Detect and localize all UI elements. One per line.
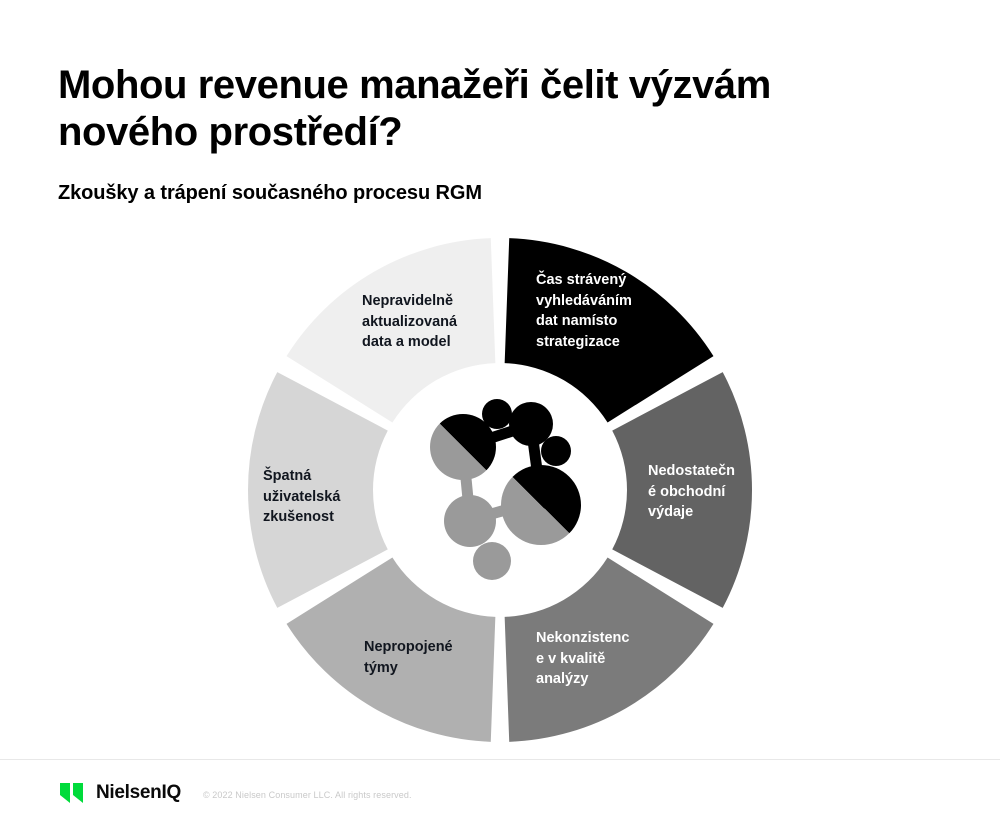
segment-label-0: Čas strávený vyhledáváním dat namísto st…	[536, 270, 654, 352]
segment-label-1: Nedostatečn é obchodní výdaje	[648, 461, 748, 523]
donut-chart-svg	[0, 0, 1000, 780]
segment-label-4: Špatná uživatelská zkušenost	[263, 466, 367, 528]
nielseniq-logo: NielsenIQ	[58, 780, 181, 806]
molecule-network-icon	[430, 399, 581, 580]
segment-label-5: Nepravidelně aktualizovaná data a model	[362, 291, 480, 353]
segment-label-3: Nepropojené týmy	[364, 637, 474, 678]
copyright-text: © 2022 Nielsen Consumer LLC. All rights …	[203, 786, 412, 800]
slide-canvas: Mohou revenue manažeři čelit výzvám nové…	[0, 0, 1000, 832]
brand-name: NielsenIQ	[96, 782, 181, 804]
segment-label-2: Nekonzistenc e v kvalitě analýzy	[536, 628, 646, 690]
nielseniq-logo-mark	[58, 780, 92, 806]
donut-diagram: Čas strávený vyhledáváním dat namísto st…	[0, 0, 1000, 780]
footer: NielsenIQ © 2022 Nielsen Consumer LLC. A…	[0, 759, 1000, 832]
